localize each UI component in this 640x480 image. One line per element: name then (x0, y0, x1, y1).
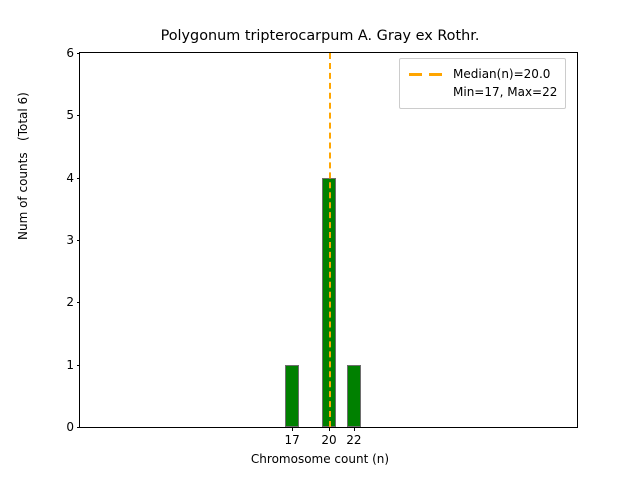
x-tick-mark-17 (292, 427, 293, 431)
x-tick-label-20: 20 (321, 433, 336, 447)
matplotlib-figure: Polygonum tripterocarpum A. Gray ex Roth… (0, 0, 640, 480)
median-line (329, 53, 331, 427)
dashed-line-icon (408, 67, 444, 81)
legend-label-minmax: Min=17, Max=22 (453, 85, 557, 99)
y-tick-label-3: 3 (66, 233, 74, 247)
legend-label-median: Median(n)=20.0 (453, 67, 550, 81)
y-tick-label-4: 4 (66, 171, 74, 185)
y-tick-label-2: 2 (66, 295, 74, 309)
x-axis-label: Chromosome count (n) (0, 452, 640, 466)
legend-entry-median: Median(n)=20.0 (408, 65, 557, 83)
chart-legend: Median(n)=20.0 Min=17, Max=22 (399, 58, 566, 109)
x-tick-label-17: 17 (285, 433, 300, 447)
y-tick-mark-0 (77, 427, 81, 428)
chart-title: Polygonum tripterocarpum A. Gray ex Roth… (0, 28, 640, 44)
y-tick-label-5: 5 (66, 108, 74, 122)
y-tick-label-6: 6 (66, 46, 74, 60)
y-tick-label-0: 0 (66, 420, 74, 434)
x-tick-mark-22 (354, 427, 355, 431)
y-tick-label-1: 1 (66, 358, 74, 372)
x-tick-mark-20 (329, 427, 330, 431)
legend-entry-minmax: Min=17, Max=22 (408, 83, 557, 101)
x-tick-label-22: 22 (346, 433, 361, 447)
legend-spacer (408, 85, 444, 99)
y-axis-label: Num of counts (Total 6) (16, 92, 30, 240)
median-layer (80, 53, 577, 427)
